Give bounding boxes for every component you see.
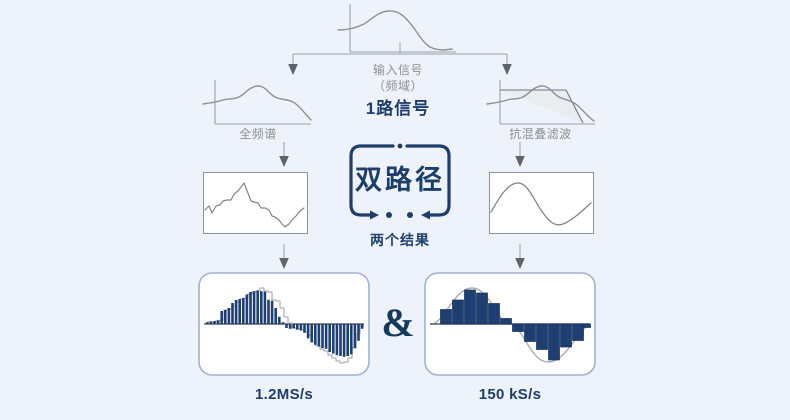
one-channel-signal-label: 1路信号 — [334, 99, 462, 119]
ampersand-connector: & — [375, 303, 421, 343]
noisy-waveform-box — [203, 172, 308, 234]
branch-arrows-icon — [285, 40, 515, 78]
dual-path-title: 双路径 — [348, 165, 452, 195]
input-signal-caption-line2: （频域） — [334, 79, 462, 94]
anti-alias-filter-plot — [483, 78, 598, 130]
arrow-right-to-result — [512, 244, 528, 270]
sine-waveform-box — [489, 172, 594, 234]
two-results-label: 两个结果 — [340, 231, 460, 249]
low-rate-result-box — [424, 272, 596, 376]
split-connector — [285, 40, 515, 78]
diagram-canvas: 输入信号 （频域） 1路信号 全频谱 抗混叠滤波 — [0, 0, 790, 420]
arrow-right-to-detail — [512, 142, 528, 168]
down-arrow-icon — [512, 244, 528, 270]
high-rate-sampled-waveform-icon — [198, 272, 370, 376]
full-spectrum-caption: 全频谱 — [198, 127, 318, 142]
full-spectrum-plot — [203, 78, 313, 130]
high-rate-label: 1.2MS/s — [198, 386, 370, 404]
anti-alias-filter-caption: 抗混叠滤波 — [478, 127, 603, 142]
full-spectrum-plot-icon — [203, 78, 313, 130]
anti-alias-filter-plot-icon — [483, 78, 598, 130]
down-arrow-icon — [276, 142, 292, 168]
down-arrow-icon — [276, 244, 292, 270]
arrow-left-to-result — [276, 244, 292, 270]
low-rate-sampled-waveform-icon — [424, 272, 596, 376]
sine-waveform-icon — [489, 172, 594, 234]
low-rate-label: 150 kS/s — [424, 386, 596, 404]
arrow-left-to-detail — [276, 142, 292, 168]
high-rate-result-box — [198, 272, 370, 376]
down-arrow-icon — [512, 142, 528, 168]
noisy-waveform-icon — [203, 172, 308, 234]
